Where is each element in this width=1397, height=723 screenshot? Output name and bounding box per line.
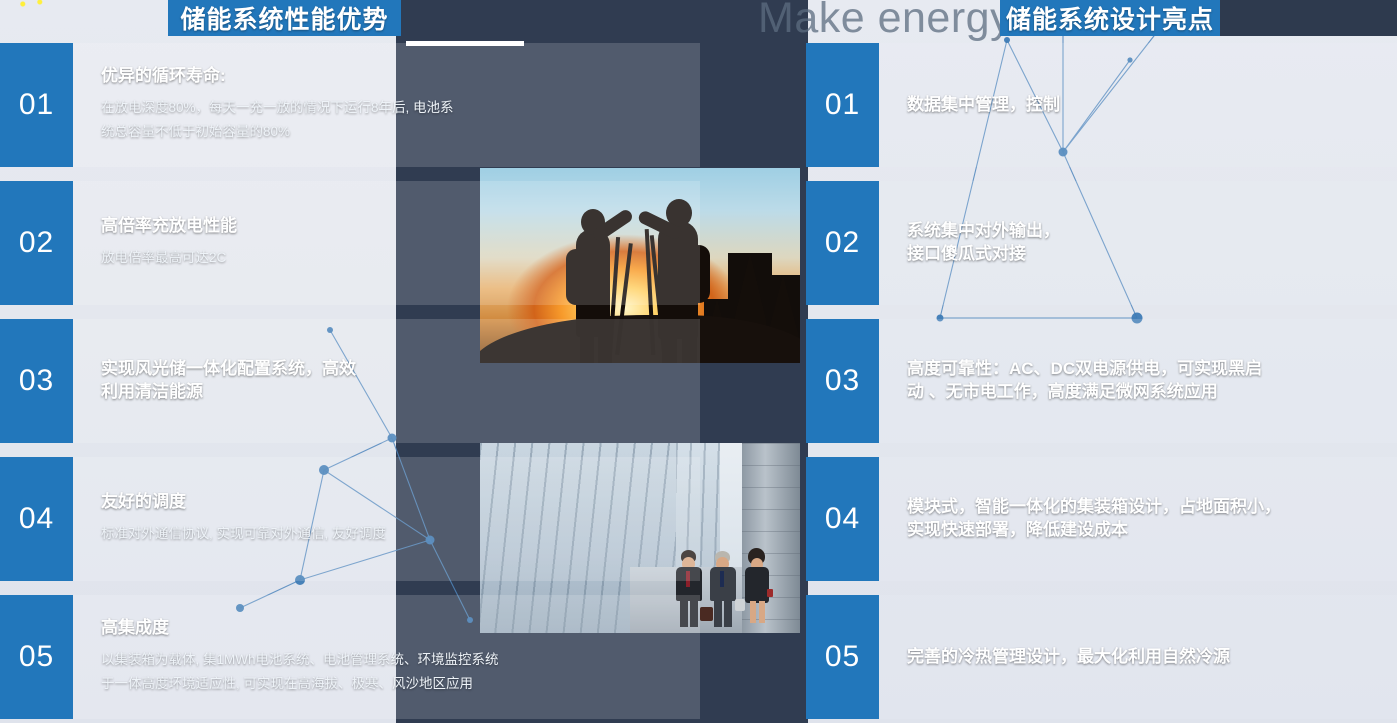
item-title: 系统集中对外输出， 接口傻瓜式对接	[907, 220, 1397, 266]
item-body: 高度可靠性：AC、DC双电源供电，可实现黑启 动 、无市电工作，高度满足微网系统…	[879, 319, 1397, 443]
item-body: 友好的调度 标准对外通信协议, 实现可靠对外通信, 友好调度	[73, 457, 700, 581]
list-item[interactable]: 01 优异的循环寿命: 在放电深度80%，每天一充一放的情况下运行8年后, 电池…	[0, 43, 700, 167]
item-description: 标准对外通信协议, 实现可靠对外通信, 友好调度	[101, 522, 700, 547]
dark-top-right-panel	[1204, 0, 1397, 36]
item-number: 03	[0, 319, 73, 443]
item-number: 02	[806, 181, 879, 305]
item-title: 完善的冷热管理设计，最大化利用自然冷源	[907, 646, 1397, 669]
item-title: 友好的调度	[101, 491, 700, 514]
item-number: 01	[0, 43, 73, 167]
list-item[interactable]: 03 实现风光储一体化配置系统，高效 利用清洁能源	[0, 319, 700, 443]
list-item[interactable]: 02 系统集中对外输出， 接口傻瓜式对接	[806, 181, 1397, 305]
item-number: 05	[0, 595, 73, 719]
item-body: 高倍率充放电性能 放电倍率最高可达2C	[73, 181, 700, 305]
left-panel-title-tab[interactable]: 储能系统性能优势	[168, 0, 401, 36]
item-title: 高集成度	[101, 617, 700, 640]
item-title: 优异的循环寿命:	[101, 65, 700, 88]
list-item[interactable]: 01 数据集中管理，控制	[806, 43, 1397, 167]
item-body: 数据集中管理，控制	[879, 43, 1397, 167]
list-item[interactable]: 05 完善的冷热管理设计，最大化利用自然冷源	[806, 595, 1397, 719]
list-item[interactable]: 02 高倍率充放电性能 放电倍率最高可达2C	[0, 181, 700, 305]
item-description: 在放电深度80%，每天一充一放的情况下运行8年后, 电池系 统总容量不低于初始容…	[101, 96, 700, 146]
sparkle-icon	[16, 0, 50, 8]
item-number: 02	[0, 181, 73, 305]
item-title: 数据集中管理，控制	[907, 94, 1397, 117]
item-number: 04	[806, 457, 879, 581]
item-body: 优异的循环寿命: 在放电深度80%，每天一充一放的情况下运行8年后, 电池系 统…	[73, 43, 700, 167]
item-number: 01	[806, 43, 879, 167]
right-panel-title-tab[interactable]: 储能系统设计亮点	[1000, 0, 1220, 36]
list-item[interactable]: 03 高度可靠性：AC、DC双电源供电，可实现黑启 动 、无市电工作，高度满足微…	[806, 319, 1397, 443]
list-item[interactable]: 05 高集成度 以集装箱为载体, 集1MWh电池系统、电池管理系统、环境监控系统…	[0, 595, 700, 719]
list-item[interactable]: 04 模块式，智能一体化的集装箱设计，占地面积小， 实现快速部署，降低建设成本	[806, 457, 1397, 581]
item-body: 高集成度 以集装箱为载体, 集1MWh电池系统、电池管理系统、环境监控系统 于一…	[73, 595, 700, 719]
item-body: 模块式，智能一体化的集装箱设计，占地面积小， 实现快速部署，降低建设成本	[879, 457, 1397, 581]
item-description: 以集装箱为载体, 集1MWh电池系统、电池管理系统、环境监控系统 于一体高度环境…	[101, 648, 700, 698]
item-number: 05	[806, 595, 879, 719]
item-number: 03	[806, 319, 879, 443]
item-description: 放电倍率最高可达2C	[101, 246, 700, 271]
presentation-slide: Make energy sa 储能系统性能优势 储能系统设计亮点 01 优异的循…	[0, 0, 1397, 723]
item-title: 实现风光储一体化配置系统，高效 利用清洁能源	[101, 358, 700, 404]
item-title: 模块式，智能一体化的集装箱设计，占地面积小， 实现快速部署，降低建设成本	[907, 496, 1397, 542]
item-title: 高度可靠性：AC、DC双电源供电，可实现黑启 动 、无市电工作，高度满足微网系统…	[907, 358, 1397, 404]
item-title: 高倍率充放电性能	[101, 215, 700, 238]
item-body: 系统集中对外输出， 接口傻瓜式对接	[879, 181, 1397, 305]
item-number: 04	[0, 457, 73, 581]
list-item[interactable]: 04 友好的调度 标准对外通信协议, 实现可靠对外通信, 友好调度	[0, 457, 700, 581]
item-body: 完善的冷热管理设计，最大化利用自然冷源	[879, 595, 1397, 719]
item-body: 实现风光储一体化配置系统，高效 利用清洁能源	[73, 319, 700, 443]
